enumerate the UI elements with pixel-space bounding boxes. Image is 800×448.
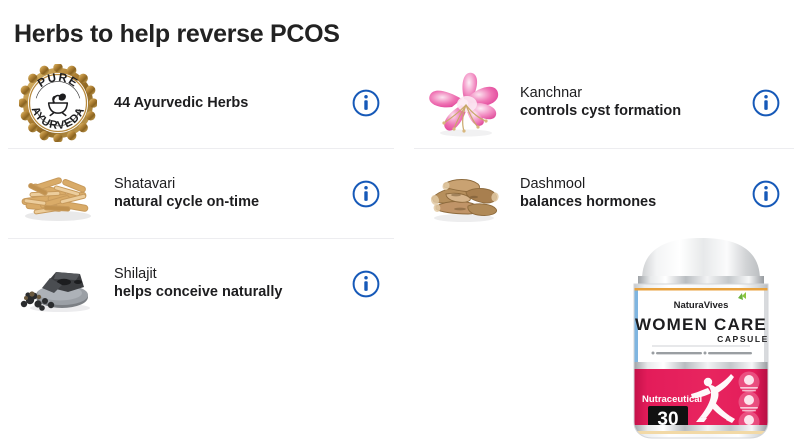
herb-list-right: Kanchnar controls cyst formation: [414, 58, 794, 238]
info-icon[interactable]: [352, 270, 380, 298]
item-text: Shilajit helps conceive naturally: [108, 266, 352, 301]
dashmool-roots-icon: [414, 155, 514, 233]
list-item[interactable]: PURE AYURVEDA: [8, 58, 394, 148]
shatavari-roots-icon: [8, 155, 108, 233]
list-item[interactable]: Kanchnar controls cyst formation: [414, 58, 794, 148]
item-title: 44 Ayurvedic Herbs: [114, 95, 352, 111]
item-title: Dashmool: [520, 176, 752, 194]
list-item[interactable]: Shatavari natural cycle on-time: [8, 148, 394, 238]
shilajit-resin-icon: [8, 245, 108, 323]
item-text: 44 Ayurvedic Herbs: [108, 95, 352, 111]
product-category: Nutraceutical: [642, 394, 702, 405]
product-brand: NaturaVives: [674, 300, 729, 311]
info-icon[interactable]: [752, 89, 780, 117]
certification-badges: [739, 372, 760, 433]
item-subtitle: controls cyst formation: [520, 103, 752, 121]
product-form: CAPSULE: [717, 334, 769, 344]
herb-list-left: PURE AYURVEDA: [8, 58, 394, 328]
info-icon[interactable]: [352, 180, 380, 208]
info-icon[interactable]: [352, 89, 380, 117]
kanchnar-flower-icon: [414, 64, 514, 142]
list-item[interactable]: Dashmool balances hormones: [414, 148, 794, 238]
item-text: Shatavari natural cycle on-time: [108, 176, 352, 211]
item-text: Dashmool balances hormones: [514, 176, 752, 211]
item-title: Shatavari: [114, 176, 352, 194]
list-item[interactable]: Shilajit helps conceive naturally: [8, 238, 394, 328]
info-icon[interactable]: [752, 180, 780, 208]
item-text: Kanchnar controls cyst formation: [514, 85, 752, 120]
product-bottle-image: NaturaVives WOMEN CARE CAPSULE: [612, 236, 790, 448]
item-subtitle: natural cycle on-time: [114, 194, 352, 212]
item-title: Kanchnar: [520, 85, 752, 103]
item-title: Shilajit: [114, 266, 352, 284]
product-name: WOMEN CARE: [635, 315, 767, 334]
page-title: Herbs to help reverse PCOS: [14, 20, 340, 49]
promo-panel: Herbs to help reverse PCOS: [0, 0, 800, 448]
item-subtitle: balances hormones: [520, 194, 752, 212]
item-subtitle: helps conceive naturally: [114, 284, 352, 302]
pure-ayurveda-seal-icon: PURE AYURVEDA: [8, 64, 108, 142]
